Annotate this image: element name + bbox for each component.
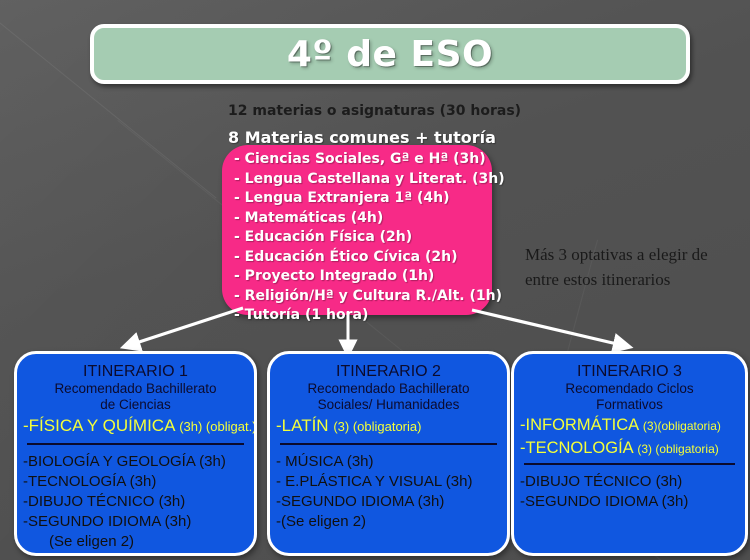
itinerary-option: -DIBUJO TÉCNICO (3h) <box>520 472 739 492</box>
required-subject-name: -FÍSICA Y QUÍMICA <box>23 416 174 435</box>
arrow-to-itinerary-1 <box>136 308 243 343</box>
required-subject-name: -INFORMÁTICA <box>520 416 638 434</box>
itinerary-subtitle-line: de Ciencias <box>23 397 248 413</box>
itinerary-card-3[interactable]: ITINERARIO 3 Recomendado Ciclos Formativ… <box>511 351 748 556</box>
itinerary-option: -SEGUNDO IDIOMA (3h) <box>520 492 739 512</box>
slide-canvas: 4º de ESO 12 materias o asignaturas (30 … <box>0 0 750 560</box>
itinerary-subtitle-line: Sociales/ Humanidades <box>276 397 501 413</box>
common-subjects-box: - Ciencias Sociales, Gª e Hª (3h) - Leng… <box>222 145 492 315</box>
list-item: - Educación Física (2h) <box>234 228 492 248</box>
divider <box>524 463 735 465</box>
itinerary-card-2[interactable]: ITINERARIO 2 Recomendado Bachillerato So… <box>267 351 510 556</box>
itinerary-title: ITINERARIO 1 <box>23 362 248 381</box>
itinerary-option: -TECNOLOGÍA (3h) <box>23 472 248 492</box>
itinerary-subtitle-line: Recomendado Bachillerato <box>23 381 248 397</box>
title-banner: 4º de ESO <box>90 24 690 84</box>
list-item: - Ciencias Sociales, Gª e Hª (3h) <box>234 150 492 170</box>
list-item: - Matemáticas (4h) <box>234 209 492 229</box>
required-subject-name: -LATÍN <box>276 416 329 435</box>
itinerary-subtitle-line: Recomendado Ciclos <box>520 381 739 397</box>
list-item: - Lengua Castellana y Literat. (3h) <box>234 170 492 190</box>
itinerary-required-subject: -INFORMÁTICA (3)(obligatoria) <box>520 415 739 436</box>
required-subject-qualifier: (3) (obligatoria) <box>333 419 421 434</box>
itinerary-option: -(Se eligen 2) <box>276 512 501 532</box>
itinerary-subtitle-line: Formativos <box>520 397 739 413</box>
arrow-to-itinerary-3 <box>472 310 617 344</box>
required-subject-name: -TECNOLOGÍA <box>520 439 633 457</box>
itinerary-subtitle-line: Recomendado Bachillerato <box>276 381 501 397</box>
itinerary-title: ITINERARIO 3 <box>520 362 739 381</box>
subject-count-label: 12 materias o asignaturas (30 horas) <box>228 103 521 119</box>
itinerary-card-1[interactable]: ITINERARIO 1 Recomendado Bachillerato de… <box>14 351 257 556</box>
itinerary-option: -DIBUJO TÉCNICO (3h) <box>23 492 248 512</box>
required-subject-qualifier: (3h) (obligat.) <box>179 419 256 434</box>
list-item: - Educación Ético Cívica (2h) <box>234 248 492 268</box>
itinerary-option: - MÚSICA (3h) <box>276 452 501 472</box>
required-subject-qualifier: (3) (obligatoria) <box>637 442 718 456</box>
divider <box>280 443 497 445</box>
itinerary-footnote: (Se eligen 2) <box>23 532 248 552</box>
list-item: - Religión/Hª y Cultura R./Alt. (1h) <box>234 287 492 307</box>
list-item: - Tutoría (1 hora) <box>234 306 492 326</box>
itinerary-option: -BIOLOGÍA Y GEOLOGÍA (3h) <box>23 452 248 472</box>
itinerary-required-subject: -TECNOLOGÍA (3) (obligatoria) <box>520 438 739 459</box>
itinerary-required-subject: -FÍSICA Y QUÍMICA (3h) (obligat.) <box>23 415 248 437</box>
required-subject-qualifier: (3)(obligatoria) <box>643 419 721 433</box>
divider <box>27 443 244 445</box>
list-item: - Proyecto Integrado (1h) <box>234 267 492 287</box>
itinerary-title: ITINERARIO 2 <box>276 362 501 381</box>
optatives-note: Más 3 optativas a elegir de entre estos … <box>525 242 725 292</box>
itinerary-option: - E.PLÁSTICA Y VISUAL (3h) <box>276 472 501 492</box>
list-item: - Lengua Extranjera 1ª (4h) <box>234 189 492 209</box>
itinerary-option: -SEGUNDO IDIOMA (3h) <box>23 512 248 532</box>
itinerary-required-subject: -LATÍN (3) (obligatoria) <box>276 415 501 437</box>
page-title: 4º de ESO <box>287 34 493 75</box>
itinerary-option: -SEGUNDO IDIOMA (3h) <box>276 492 501 512</box>
